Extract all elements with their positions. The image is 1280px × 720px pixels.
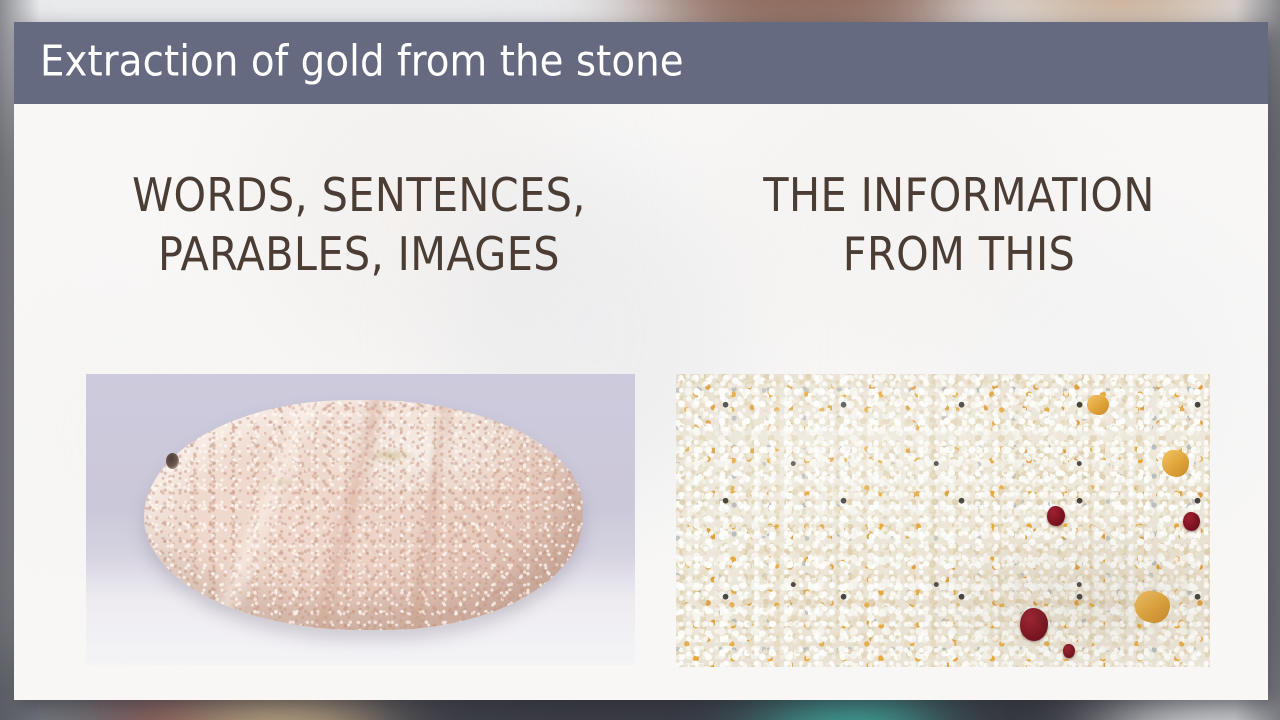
stone-body-shape xyxy=(144,400,583,630)
slide-body-panel: WORDS, SENTENCES, PARABLES, IMAGES THE I… xyxy=(14,104,1268,700)
sand-lighting-sheen xyxy=(676,374,1210,667)
presentation-slide: Extraction of gold from the stone WORDS,… xyxy=(14,22,1268,700)
sand-photo-canvas xyxy=(676,374,1210,667)
right-column-headline: THE INFORMATION FROM THIS xyxy=(674,166,1244,284)
left-column-headline: WORDS, SENTENCES, PARABLES, IMAGES xyxy=(74,166,644,284)
sand-image xyxy=(676,374,1210,667)
stone-photo-canvas xyxy=(86,374,635,665)
slide-title-bar: Extraction of gold from the stone xyxy=(14,22,1268,104)
stone-image xyxy=(86,374,635,665)
stone-surface-streaks xyxy=(144,400,583,630)
stone-dark-pit xyxy=(166,453,179,469)
slide-title: Extraction of gold from the stone xyxy=(40,41,684,84)
